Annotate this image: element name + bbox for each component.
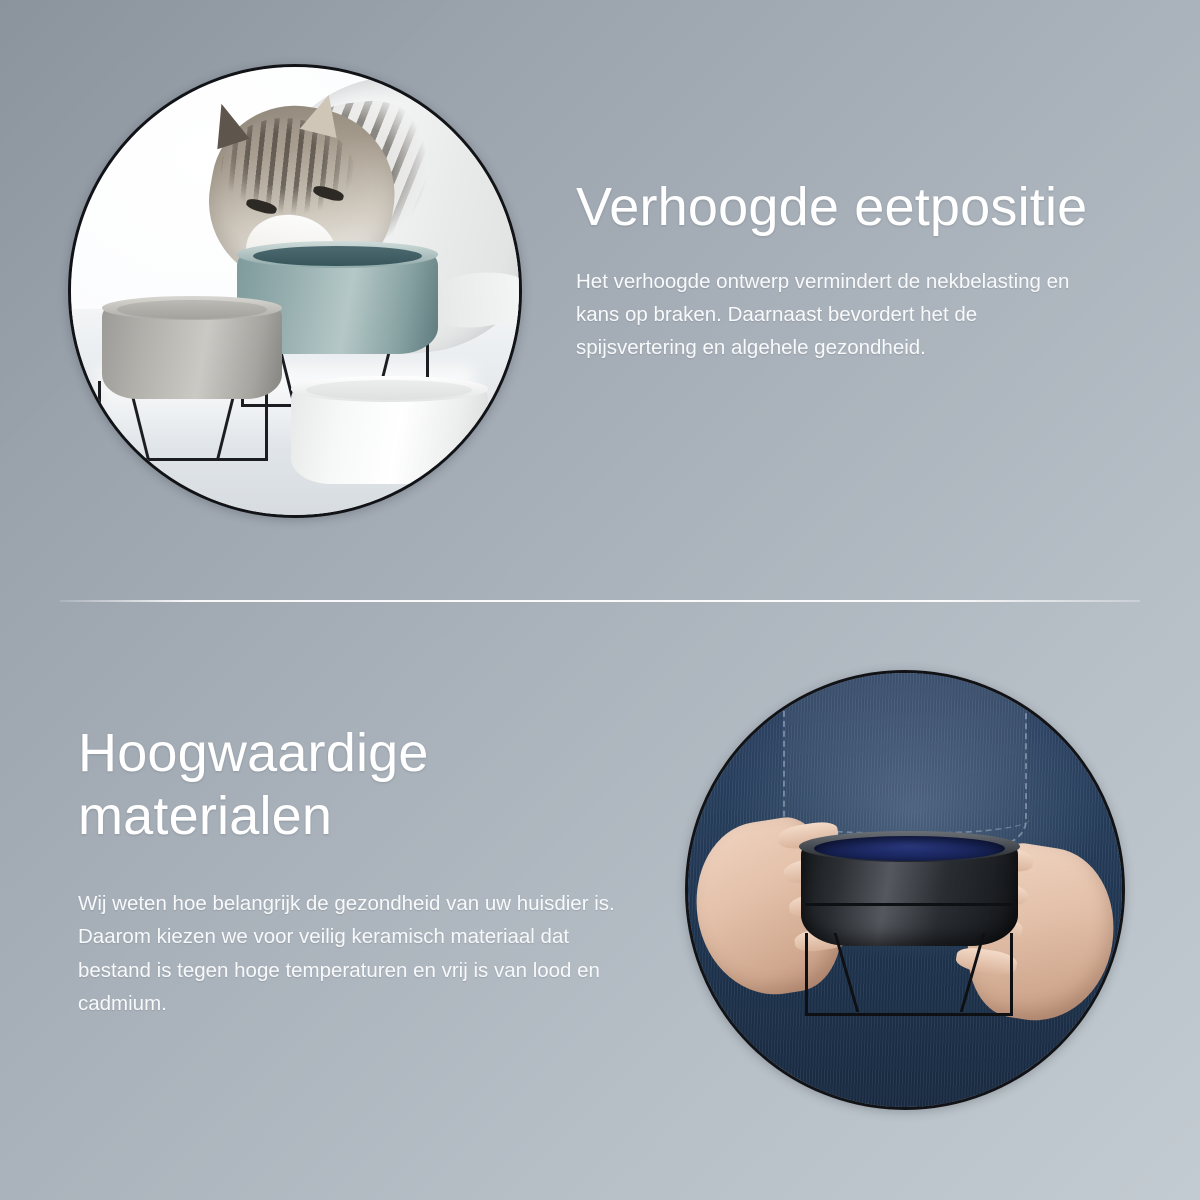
bowl-interior <box>253 246 422 267</box>
grey-ceramic-bowl <box>102 304 281 398</box>
black-metal-stand <box>805 933 1013 1015</box>
section-heading: Hoogwaardige materialen <box>78 722 618 847</box>
white-ceramic-bowl <box>291 385 488 484</box>
hands-holding-black-bowl-photo <box>685 670 1125 1110</box>
stand-top-bar <box>805 903 1013 906</box>
section-text-verhoogde-eetpositie: Verhoogde eetpositie Het verhoogde ontwe… <box>576 176 1116 364</box>
section-divider <box>60 600 1140 602</box>
cat-eating-from-elevated-bowls-photo <box>68 64 522 518</box>
section-text-hoogwaardige-materialen: Hoogwaardige materialen Wij weten hoe be… <box>78 722 618 1020</box>
black-ceramic-bowl <box>801 842 1018 946</box>
bowl-interior <box>117 300 268 319</box>
blue-glazed-interior <box>814 836 1005 861</box>
bowl-interior <box>306 380 472 400</box>
section-body: Wij weten hoe belangrijk de gezondheid v… <box>78 887 618 1020</box>
photo-scene-hands <box>688 673 1122 1107</box>
section-heading: Verhoogde eetpositie <box>576 176 1116 239</box>
section-body: Het verhoogde ontwerp vermindert de nekb… <box>576 265 1096 365</box>
photo-scene-cat <box>71 67 519 515</box>
